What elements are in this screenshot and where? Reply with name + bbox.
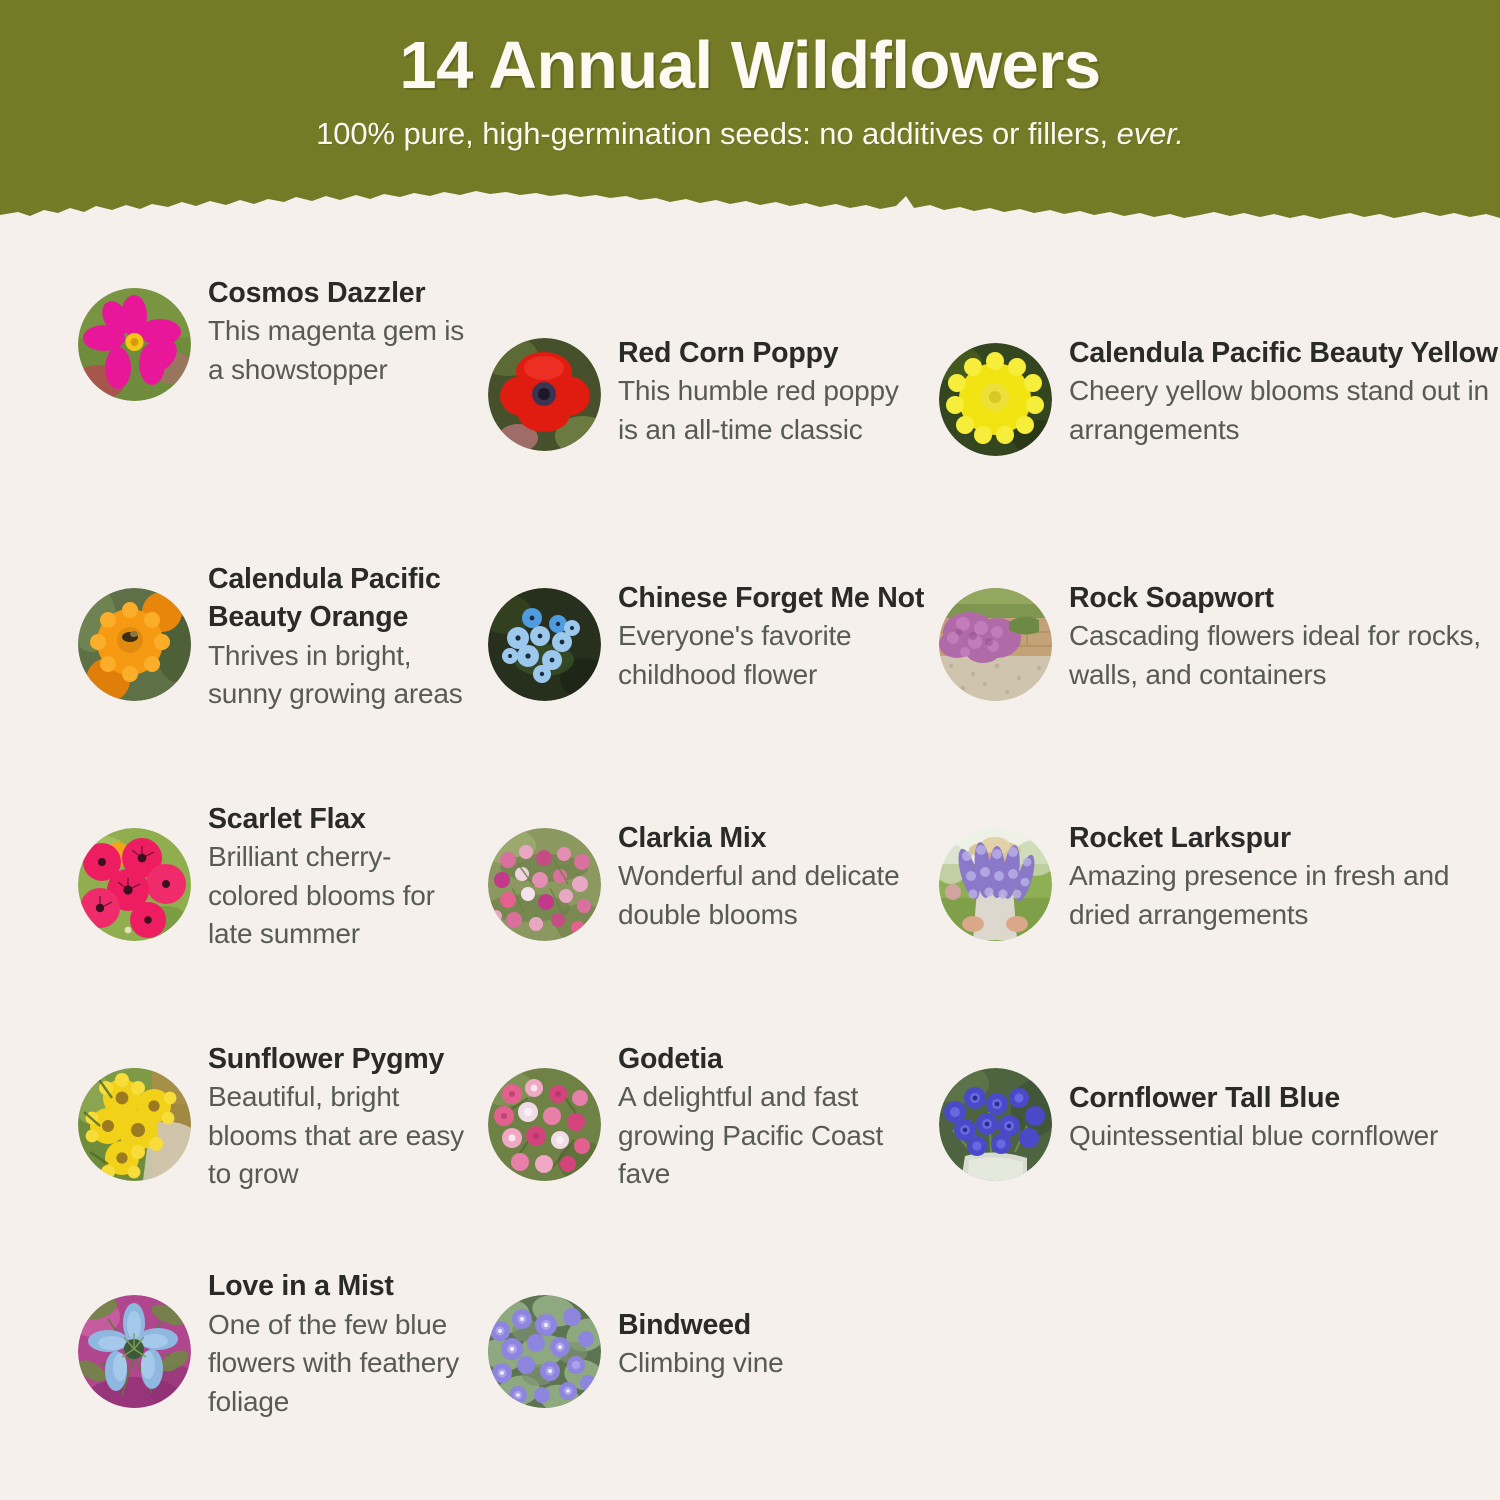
sunflower-pygmy-thumbnail <box>78 1068 191 1181</box>
flower-text: Clarkia Mix Wonderful and delicate doubl… <box>618 819 925 934</box>
flower-name: Cornflower Tall Blue <box>1069 1079 1438 1117</box>
flower-text: Rock Soapwort Cascading flowers ideal fo… <box>1069 579 1500 694</box>
flower-name: Rock Soapwort <box>1069 579 1500 617</box>
flower-description: Cascading flowers ideal for rocks, walls… <box>1069 617 1500 694</box>
flower-name: Love in a Mist <box>208 1267 470 1305</box>
flower-card-cornflower-tall-blue[interactable]: Cornflower Tall Blue Quintessential blue… <box>925 990 1500 1230</box>
flower-card-godetia[interactable]: Godetia A delightful and fast growing Pa… <box>470 990 925 1230</box>
love-in-a-mist-thumbnail <box>78 1295 191 1408</box>
flower-name: Rocket Larkspur <box>1069 819 1500 857</box>
calendula-pacific-beauty-yellow-thumbnail <box>939 343 1052 456</box>
flower-card-rock-soapwort[interactable]: Rock Soapwort Cascading flowers ideal fo… <box>925 510 1500 750</box>
cosmos-dazzler-thumbnail <box>78 288 191 401</box>
flower-name: Calendula Pacific Beauty Orange <box>208 560 470 636</box>
grid-empty-cell <box>925 1230 1500 1445</box>
header-text-block: 14 Annual Wildflowers 100% pure, high-ge… <box>0 0 1500 152</box>
flower-text: Scarlet Flax Brilliant cherry-colored bl… <box>208 800 470 954</box>
flower-card-chinese-forget-me-not[interactable]: Chinese Forget Me Not Everyone's favorit… <box>470 510 925 750</box>
flower-text: Red Corn Poppy This humble red poppy is … <box>618 334 925 449</box>
flower-text: Calendula Pacific Beauty Orange Thrives … <box>208 560 470 714</box>
flower-description: Thrives in bright, sunny growing areas <box>208 637 470 714</box>
flower-card-clarkia-mix[interactable]: Clarkia Mix Wonderful and delicate doubl… <box>470 750 925 990</box>
rocket-larkspur-thumbnail <box>939 828 1052 941</box>
flower-text: Bindweed Climbing vine <box>618 1306 783 1383</box>
flower-card-love-in-a-mist[interactable]: Love in a Mist One of the few blue flowe… <box>0 1230 470 1445</box>
chinese-forget-me-not-thumbnail <box>488 588 601 701</box>
flower-description: Wonderful and delicate double blooms <box>618 857 925 934</box>
header-banner: 14 Annual Wildflowers 100% pure, high-ge… <box>0 0 1500 232</box>
flower-description: Beautiful, bright blooms that are easy t… <box>208 1078 470 1194</box>
flower-name: Red Corn Poppy <box>618 334 925 372</box>
grid-row: Love in a Mist One of the few blue flowe… <box>0 1230 1500 1445</box>
flower-name: Chinese Forget Me Not <box>618 579 925 617</box>
flower-name: Calendula Pacific Beauty Yellow <box>1069 334 1500 372</box>
flower-text: Calendula Pacific Beauty Yellow Cheery y… <box>1069 334 1500 449</box>
flower-card-scarlet-flax[interactable]: Scarlet Flax Brilliant cherry-colored bl… <box>0 750 470 990</box>
calendula-pacific-beauty-orange-thumbnail <box>78 588 191 701</box>
flower-card-rocket-larkspur[interactable]: Rocket Larkspur Amazing presence in fres… <box>925 750 1500 990</box>
page-subtitle: 100% pure, high-germination seeds: no ad… <box>0 115 1500 152</box>
flower-name: Scarlet Flax <box>208 800 470 838</box>
flower-card-cosmos-dazzler[interactable]: Cosmos Dazzler This magenta gem is a sho… <box>0 260 470 510</box>
flower-card-calendula-pacific-beauty-yellow[interactable]: Calendula Pacific Beauty Yellow Cheery y… <box>925 260 1500 510</box>
flower-text: Sunflower Pygmy Beautiful, bright blooms… <box>208 1040 470 1194</box>
flower-text: Cornflower Tall Blue Quintessential blue… <box>1069 1079 1438 1156</box>
grid-row: Calendula Pacific Beauty Orange Thrives … <box>0 510 1500 750</box>
flower-description: Amazing presence in fresh and dried arra… <box>1069 857 1500 934</box>
flower-name: Cosmos Dazzler <box>208 274 470 312</box>
scarlet-flax-thumbnail <box>78 828 191 941</box>
flower-text: Love in a Mist One of the few blue flowe… <box>208 1267 470 1421</box>
clarkia-mix-thumbnail <box>488 828 601 941</box>
grid-row: Sunflower Pygmy Beautiful, bright blooms… <box>0 990 1500 1230</box>
flower-description: Climbing vine <box>618 1344 783 1383</box>
red-corn-poppy-thumbnail <box>488 338 601 451</box>
flower-text: Godetia A delightful and fast growing Pa… <box>618 1040 925 1194</box>
flower-text: Cosmos Dazzler This magenta gem is a sho… <box>208 274 470 389</box>
flower-description: Brilliant cherry-colored blooms for late… <box>208 838 470 954</box>
flower-name: Clarkia Mix <box>618 819 925 857</box>
flower-description: This magenta gem is a showstopper <box>208 312 470 389</box>
godetia-thumbnail <box>488 1068 601 1181</box>
flower-text: Rocket Larkspur Amazing presence in fres… <box>1069 819 1500 934</box>
flower-description: Quintessential blue cornflower <box>1069 1117 1438 1156</box>
flower-name: Bindweed <box>618 1306 783 1344</box>
flower-description: One of the few blue flowers with feather… <box>208 1306 470 1422</box>
bindweed-thumbnail <box>488 1295 601 1408</box>
flower-description: This humble red poppy is an all-time cla… <box>618 372 925 449</box>
rock-soapwort-thumbnail <box>939 588 1052 701</box>
flower-card-sunflower-pygmy[interactable]: Sunflower Pygmy Beautiful, bright blooms… <box>0 990 470 1230</box>
cornflower-tall-blue-thumbnail <box>939 1068 1052 1181</box>
page-title: 14 Annual Wildflowers <box>0 28 1500 103</box>
flower-name: Sunflower Pygmy <box>208 1040 470 1078</box>
grid-row: Cosmos Dazzler This magenta gem is a sho… <box>0 260 1500 510</box>
flower-text: Chinese Forget Me Not Everyone's favorit… <box>618 579 925 694</box>
subtitle-emphasis: ever. <box>1117 116 1184 151</box>
grid-row: Scarlet Flax Brilliant cherry-colored bl… <box>0 750 1500 990</box>
subtitle-text: 100% pure, high-germination seeds: no ad… <box>316 116 1116 151</box>
flower-description: Everyone's favorite childhood flower <box>618 617 925 694</box>
flower-card-red-corn-poppy[interactable]: Red Corn Poppy This humble red poppy is … <box>470 260 925 510</box>
flower-card-calendula-pacific-beauty-orange[interactable]: Calendula Pacific Beauty Orange Thrives … <box>0 510 470 750</box>
torn-paper-edge-icon <box>0 188 1500 232</box>
flower-card-bindweed[interactable]: Bindweed Climbing vine <box>470 1230 925 1445</box>
flower-name: Godetia <box>618 1040 925 1078</box>
flower-description: A delightful and fast growing Pacific Co… <box>618 1078 925 1194</box>
flower-description: Cheery yellow blooms stand out in arrang… <box>1069 372 1500 449</box>
flower-grid: Cosmos Dazzler This magenta gem is a sho… <box>0 232 1500 1445</box>
